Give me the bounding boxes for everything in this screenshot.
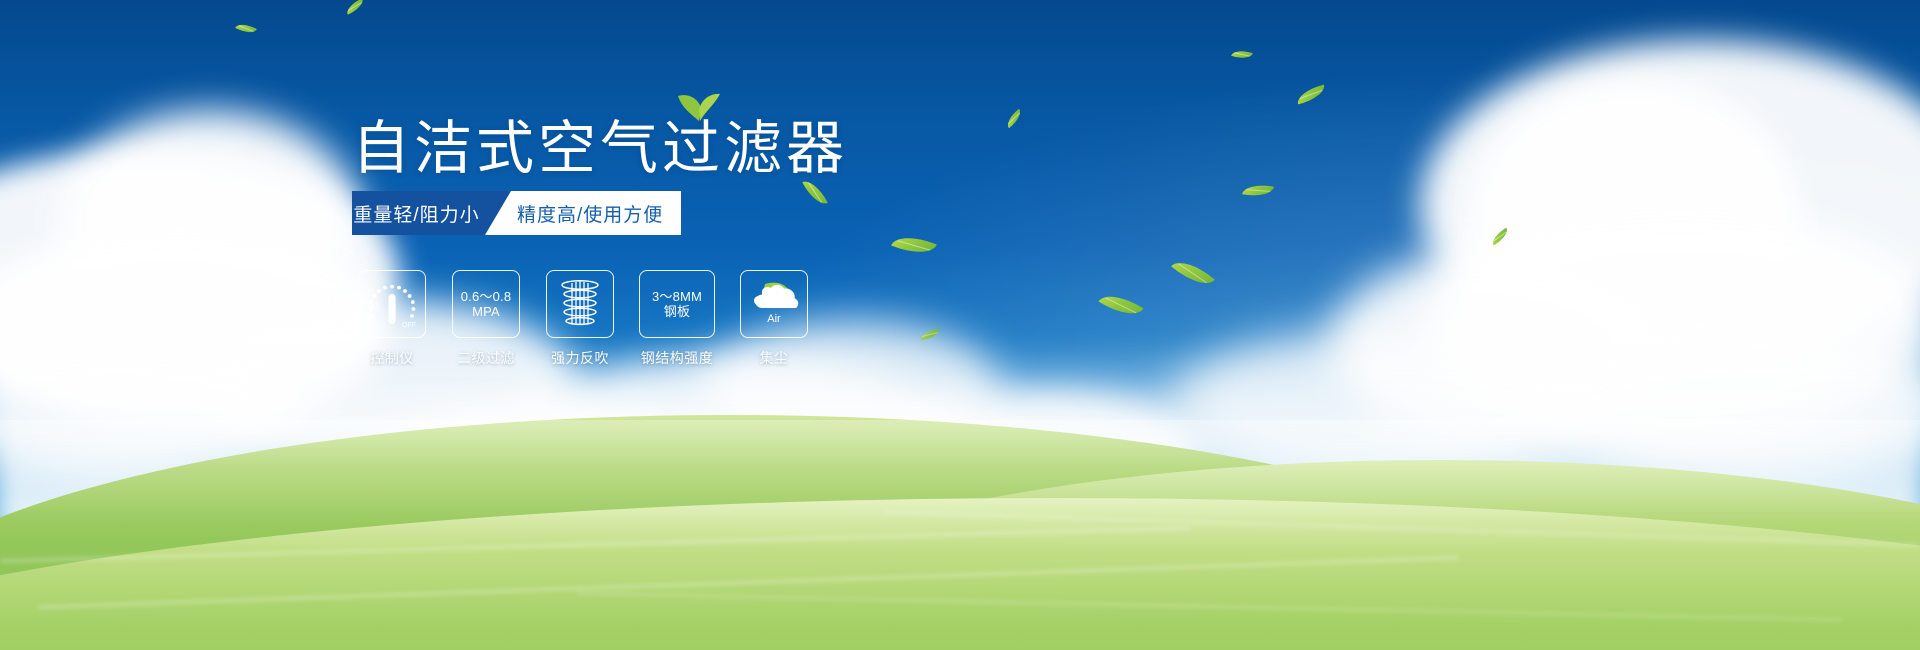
feature-label: 集尘 [760, 348, 789, 368]
feature-icon-row: NO OFF 控制仪 0.6～0.8 MPA 二级过滤 [357, 270, 809, 368]
pressure-value-line2: MPA [461, 304, 512, 319]
gauge-on-label: NO [368, 303, 379, 310]
tab-high-precision-easy-use[interactable]: 精度高/使用方便 [485, 191, 681, 235]
feature-tagline-tabs: 重量轻/阻力小 精度高/使用方便 [352, 191, 681, 235]
feature-item-controller[interactable]: NO OFF 控制仪 [357, 270, 427, 368]
page-title: 自洁式空气过滤器 [352, 118, 848, 180]
feature-icon-box: 0.6～0.8 MPA [452, 270, 520, 338]
feature-label: 强力反吹 [551, 348, 609, 368]
feature-label: 钢结构强度 [641, 348, 714, 368]
cloud-air-icon: Air [745, 278, 803, 330]
pressure-text-icon: 0.6～0.8 MPA [461, 289, 512, 319]
steel-value-line1: 3～8MM [652, 289, 702, 304]
feature-item-two-stage-filtration[interactable]: 0.6～0.8 MPA 二级过滤 [451, 270, 521, 368]
feature-icon-box: 3～8MM 钢板 [639, 270, 715, 338]
feature-icon-box [546, 270, 614, 338]
steel-value-line2: 钢板 [652, 304, 702, 319]
gauge-dial-icon: NO OFF [363, 277, 421, 331]
feature-item-dust-collection[interactable]: Air 集尘 [739, 270, 809, 368]
tab-lightweight-low-resistance[interactable]: 重量轻/阻力小 [352, 191, 485, 235]
feature-icon-box: NO OFF [358, 270, 426, 338]
banner-content: 自洁式空气过滤器 重量轻/阻力小 精度高/使用方便 [0, 0, 1920, 650]
feature-label: 控制仪 [370, 348, 414, 368]
feature-item-strong-backflush[interactable]: 强力反吹 [545, 270, 615, 368]
feature-item-steel-structure-strength[interactable]: 3～8MM 钢板 钢结构强度 [639, 270, 715, 368]
product-banner: 自洁式空气过滤器 重量轻/阻力小 精度高/使用方便 [0, 0, 1920, 650]
feature-icon-box: Air [740, 270, 808, 338]
feature-label: 二级过滤 [457, 348, 515, 368]
gauge-off-label: OFF [402, 322, 416, 329]
steel-plate-text-icon: 3～8MM 钢板 [652, 289, 702, 319]
filter-cartridge-icon [557, 278, 603, 330]
pressure-value-line1: 0.6～0.8 [461, 289, 512, 304]
air-label: Air [767, 313, 781, 325]
